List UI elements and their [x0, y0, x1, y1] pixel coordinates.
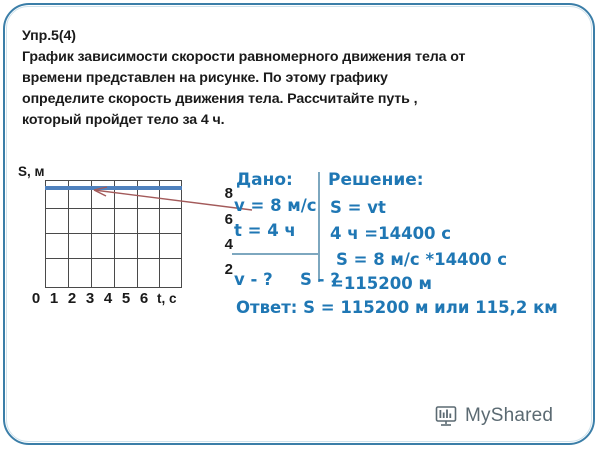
x-tick-0: 0: [27, 290, 45, 307]
grid-hline: [46, 258, 181, 259]
pointer-arrow-icon: [80, 178, 260, 218]
y-tick-2: 2: [209, 263, 233, 277]
x-axis-title: t, c: [157, 291, 177, 306]
given-time: t = 4 ч: [234, 221, 296, 240]
given-divider: [232, 253, 318, 255]
solution-line-2: 4 ч =14400 с: [330, 224, 451, 243]
solution-line-1: S = vt: [330, 198, 386, 217]
problem-line-3: определите скорость движения тела. Рассч…: [22, 89, 567, 110]
grid-vline: [68, 181, 69, 287]
x-tick-4: 4: [99, 290, 117, 307]
unknown-velocity: v - ?: [234, 270, 273, 289]
solution-line-3: S = 8 м/с *14400 с: [336, 250, 507, 269]
presentation-chart-icon: [434, 404, 458, 428]
given-velocity: v = 8 м/с: [234, 196, 317, 215]
y-tick-4: 4: [209, 238, 233, 252]
slide-canvas: Упр.5(4) График зависимости скорости рав…: [0, 0, 600, 450]
myshared-watermark: MyShared: [434, 404, 553, 428]
y-axis-title: S, м: [18, 164, 45, 179]
x-tick-2: 2: [63, 290, 81, 307]
exercise-number: Упр.5(4): [22, 26, 567, 47]
x-tick-5: 5: [117, 290, 135, 307]
problem-line-4: который пройдет тело за 4 ч.: [22, 110, 567, 131]
x-tick-6: 6: [135, 290, 153, 307]
x-tick-3: 3: [81, 290, 99, 307]
x-tick-1: 1: [45, 290, 63, 307]
answer-line: Ответ: S = 115200 м или 115,2 км: [236, 298, 558, 317]
grid-hline: [46, 233, 181, 234]
given-title: Дано:: [236, 170, 293, 190]
watermark-label: MyShared: [465, 405, 553, 427]
problem-line-2: времени представлен на рисунке. По этому…: [22, 68, 567, 89]
problem-statement: Упр.5(4) График зависимости скорости рав…: [22, 26, 567, 131]
solution-line-4: =115200 м: [330, 274, 432, 293]
x-axis-ticks: 0123456t, c: [27, 290, 242, 307]
solution-title: Решение:: [328, 170, 424, 190]
given-solution-separator: [318, 172, 320, 282]
problem-line-1: График зависимости скорости равномерного…: [22, 47, 567, 68]
